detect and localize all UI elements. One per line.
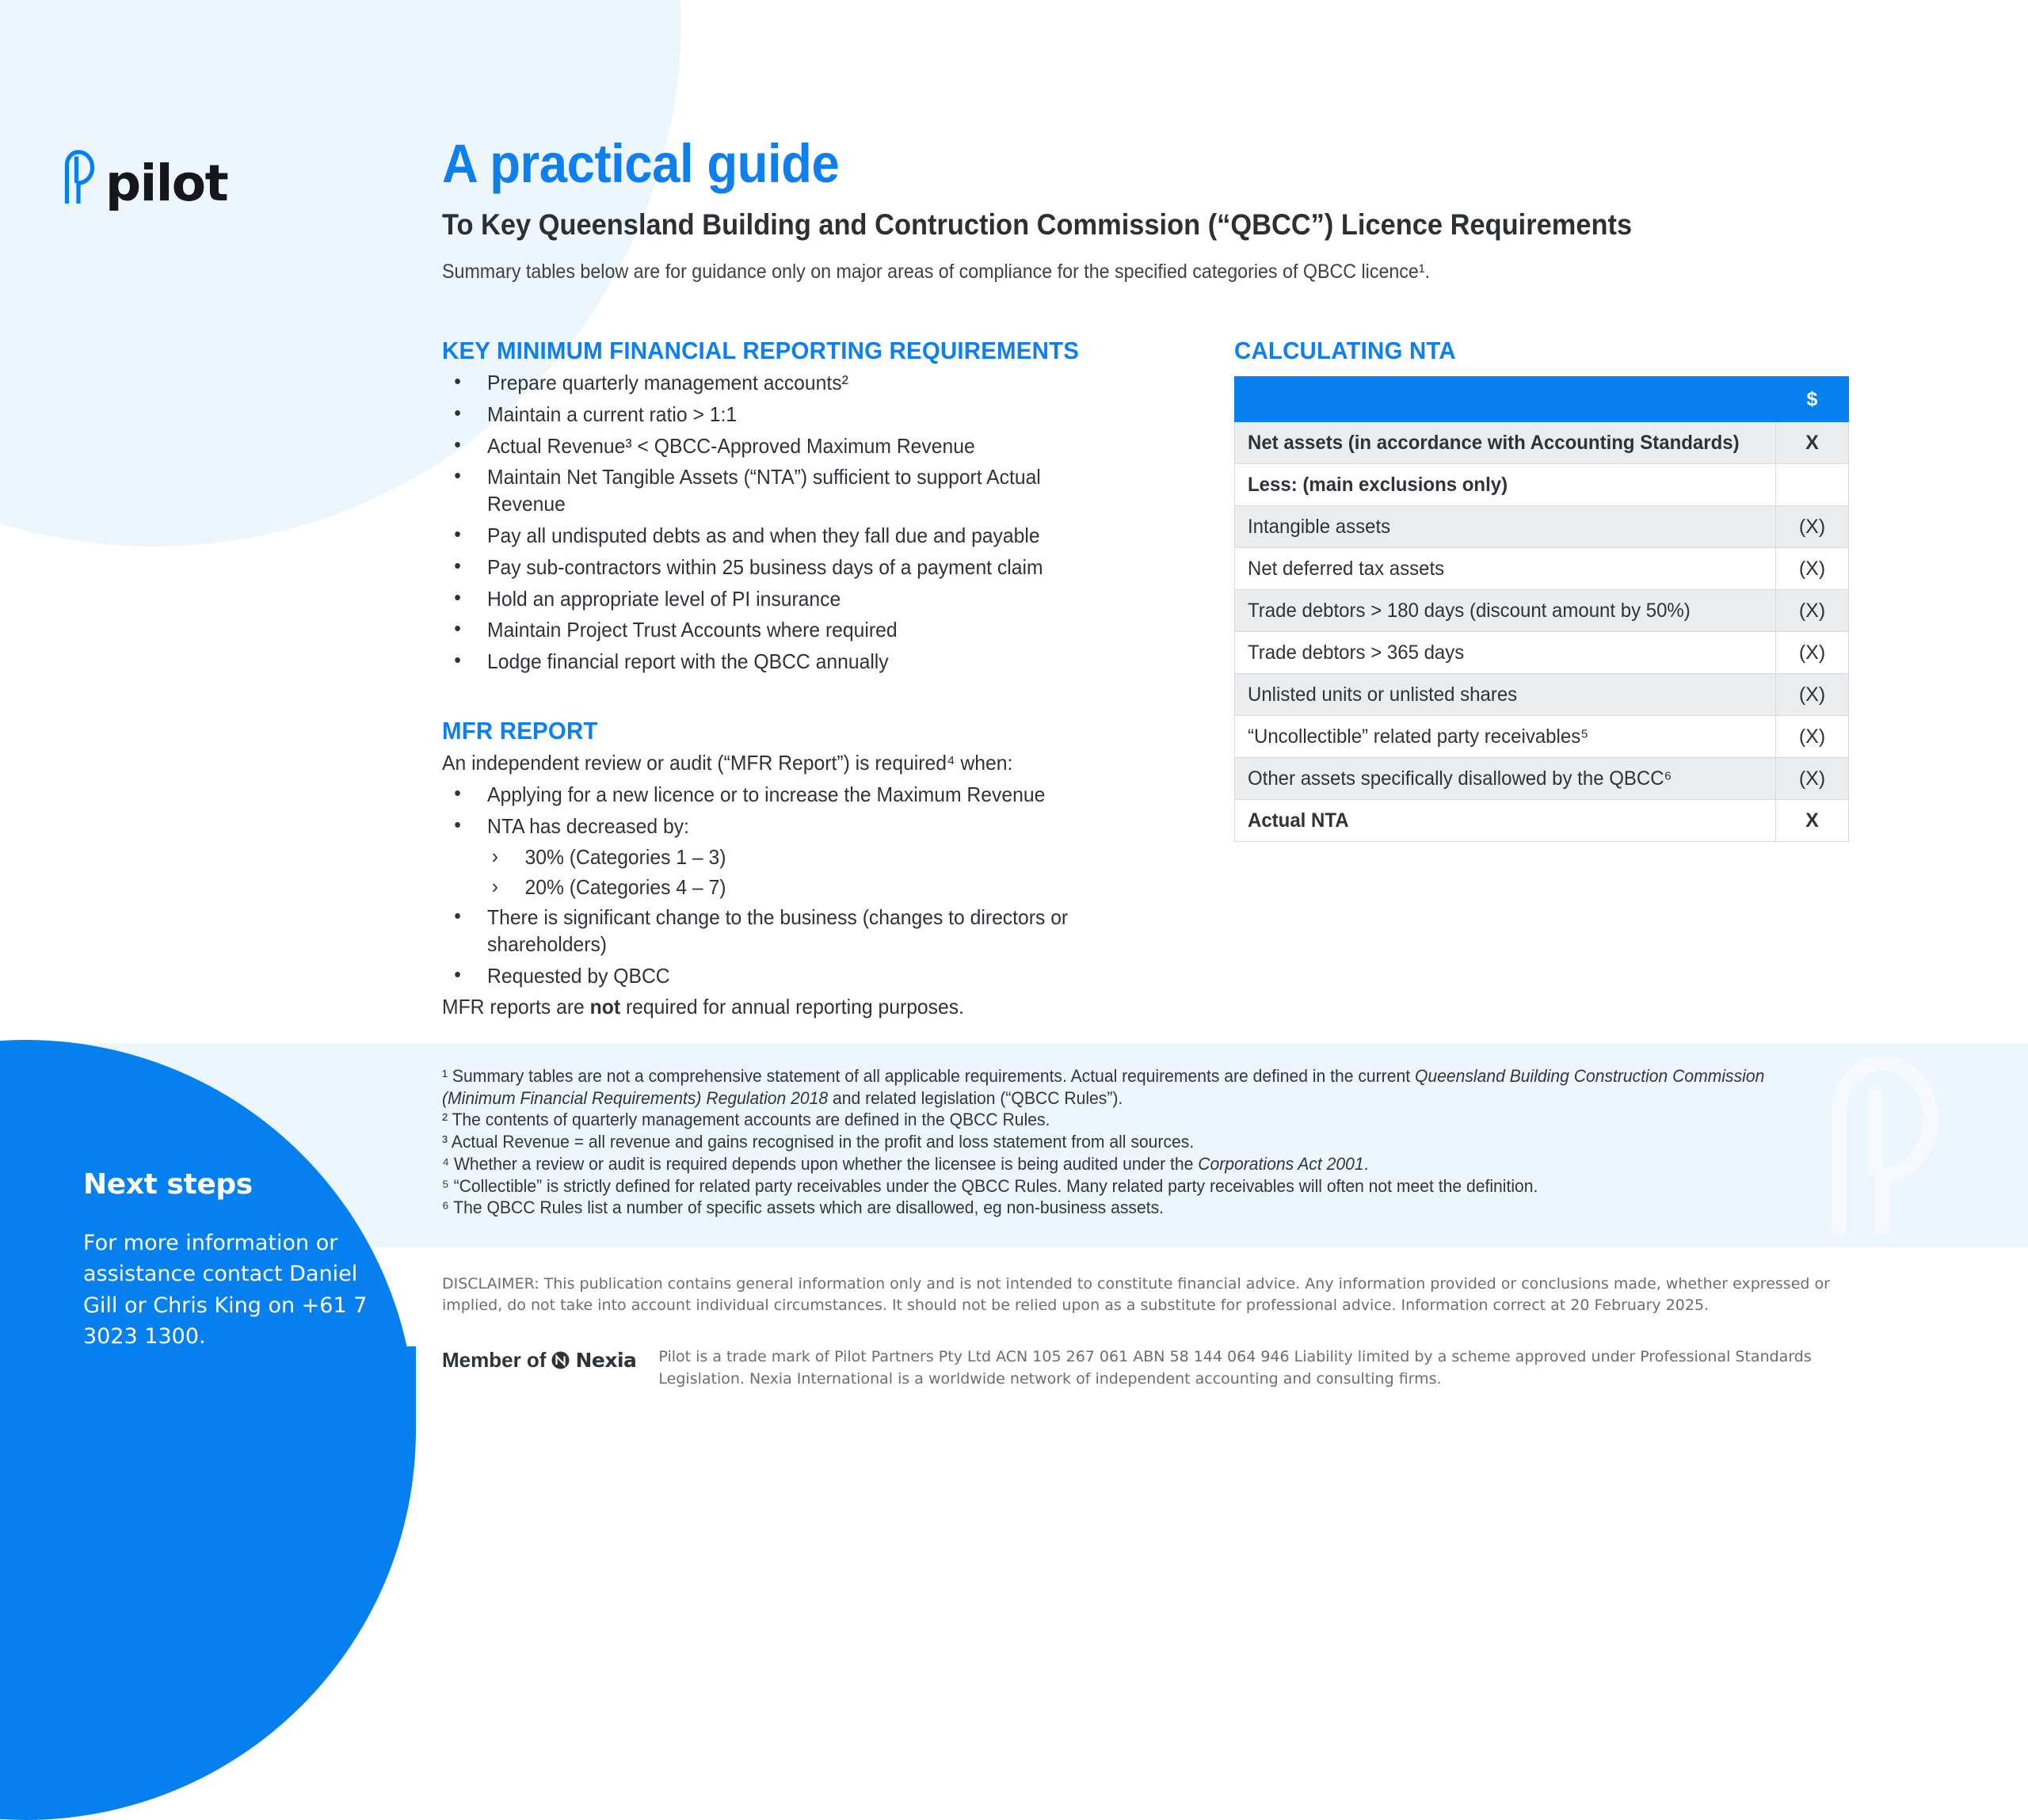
nexia-footer-row: Member of Nexia Pilot is a trade mark of…	[442, 1346, 1868, 1390]
table-cell-label: Unlisted units or unlisted shares	[1235, 674, 1776, 716]
mfr-heading: MFR REPORT	[442, 717, 1123, 745]
requirement-item: Lodge financial report with the QBCC ann…	[442, 649, 1123, 676]
right-column: CALCULATING NTA $ Net assets (in accorda…	[1234, 337, 1860, 842]
table-row: Trade debtors > 180 days (discount amoun…	[1235, 590, 1849, 632]
requirement-item: Maintain Net Tangible Assets (“NTA”) suf…	[442, 464, 1123, 518]
mfr-sub-item: 30% (Categories 1 – 3)	[442, 844, 1123, 871]
mfr-sub-item: 20% (Categories 4 – 7)	[442, 874, 1123, 901]
footnote-item: ¹ Summary tables are not a comprehensive…	[442, 1065, 1803, 1109]
pilot-wordmark: pilot	[105, 162, 227, 205]
requirements-heading: KEY MINIMUM FINANCIAL REPORTING REQUIREM…	[442, 337, 1123, 365]
legal-text: Pilot is a trade mark of Pilot Partners …	[658, 1346, 1815, 1390]
nta-heading: CALCULATING NTA	[1234, 337, 1829, 365]
table-cell-label: Net assets (in accordance with Accountin…	[1235, 422, 1776, 464]
requirement-item: Maintain Project Trust Accounts where re…	[442, 617, 1123, 644]
footnote-item: ² The contents of quarterly management a…	[442, 1109, 1803, 1131]
mfr-item: NTA has decreased by:	[442, 813, 1123, 840]
mfr-item: Requested by QBCC	[442, 963, 1123, 990]
mfr-item: Applying for a new licence or to increas…	[442, 782, 1123, 809]
mfr-item: There is significant change to the busin…	[442, 904, 1123, 958]
next-steps-heading: Next steps	[83, 1168, 384, 1201]
requirement-item: Prepare quarterly management accounts²	[442, 370, 1123, 397]
table-cell-label: Actual NTA	[1235, 800, 1776, 842]
table-cell-amount: (X)	[1776, 548, 1849, 590]
column-header-item	[1235, 377, 1776, 422]
nta-table: $ Net assets (in accordance with Account…	[1234, 376, 1849, 842]
table-cell-amount: (X)	[1776, 716, 1849, 758]
bottom-left-blue-fill	[0, 1346, 416, 1434]
mfr-list: Applying for a new licence or to increas…	[442, 782, 1159, 990]
disclaimer-text: DISCLAIMER: This publication contains ge…	[442, 1274, 1868, 1316]
footnote-item: ³ Actual Revenue = all revenue and gains…	[442, 1131, 1803, 1153]
requirement-item: Hold an appropriate level of PI insuranc…	[442, 586, 1123, 613]
document-page: pilot A practical guide To Key Queenslan…	[0, 0, 2028, 1430]
table-row: Net assets (in accordance with Accountin…	[1235, 422, 1849, 464]
requirement-item: Maintain a current ratio > 1:1	[442, 402, 1123, 428]
table-row: Actual NTAX	[1235, 800, 1849, 842]
table-row: Less: (main exclusions only)	[1235, 464, 1849, 506]
mfr-intro: An independent review or audit (“MFR Rep…	[442, 750, 1123, 777]
table-cell-label: Net deferred tax assets	[1235, 548, 1776, 590]
column-header-amount: $	[1776, 377, 1849, 422]
table-header-row: $	[1235, 377, 1849, 422]
requirement-item: Actual Revenue³ < QBCC-Approved Maximum …	[442, 433, 1123, 460]
table-cell-amount: (X)	[1776, 758, 1849, 800]
pilot-logomark-icon	[59, 143, 101, 205]
member-of-nexia: Member of Nexia	[442, 1346, 636, 1370]
footnote-item: ⁵ “Collectible” is strictly defined for …	[442, 1175, 1803, 1197]
mfr-footer-note: MFR reports are not required for annual …	[442, 994, 1123, 1021]
table-cell-label: Trade debtors > 180 days (discount amoun…	[1235, 590, 1776, 632]
table-cell-label: Less: (main exclusions only)	[1235, 464, 1776, 506]
section-spacer	[442, 680, 1159, 717]
requirement-item: Pay sub-contractors within 25 business d…	[442, 554, 1123, 581]
page-lede: Summary tables below are for guidance on…	[442, 242, 1835, 284]
table-row: Net deferred tax assets(X)	[1235, 548, 1849, 590]
nexia-logomark-icon	[551, 1350, 570, 1370]
table-row: “Uncollectible” related party receivable…	[1235, 716, 1849, 758]
footnote-item: ⁶ The QBCC Rules list a number of specif…	[442, 1197, 1803, 1219]
footnote-item: ⁴ Whether a review or audit is required …	[442, 1153, 1803, 1175]
table-cell-amount: (X)	[1776, 506, 1849, 548]
page-subtitle: To Key Queensland Building and Contructi…	[442, 191, 1835, 242]
header-block: A practical guide To Key Queensland Buil…	[442, 0, 1939, 284]
next-steps-body: For more information or assistance conta…	[83, 1228, 384, 1353]
left-column: KEY MINIMUM FINANCIAL REPORTING REQUIREM…	[442, 337, 1159, 1026]
table-cell-label: Other assets specifically disallowed by …	[1235, 758, 1776, 800]
table-cell-amount: (X)	[1776, 632, 1849, 674]
table-cell-amount: (X)	[1776, 590, 1849, 632]
table-cell-amount: X	[1776, 422, 1849, 464]
table-row: Other assets specifically disallowed by …	[1235, 758, 1849, 800]
page-title: A practical guide	[442, 0, 1820, 191]
pilot-logo: pilot	[59, 143, 227, 205]
table-cell-amount: (X)	[1776, 674, 1849, 716]
nexia-wordmark: Nexia	[575, 1350, 636, 1370]
table-cell-amount: X	[1776, 800, 1849, 842]
table-cell-amount	[1776, 464, 1849, 506]
mfr-footer-emphasis: not	[590, 995, 620, 1019]
table-cell-label: “Uncollectible” related party receivable…	[1235, 716, 1776, 758]
next-steps-panel: Next steps For more information or assis…	[83, 1168, 384, 1353]
requirements-list: Prepare quarterly management accounts²Ma…	[442, 370, 1159, 676]
table-cell-label: Intangible assets	[1235, 506, 1776, 548]
table-row: Trade debtors > 365 days(X)	[1235, 632, 1849, 674]
member-of-label: Member of	[442, 1350, 546, 1370]
table-row: Unlisted units or unlisted shares(X)	[1235, 674, 1849, 716]
table-cell-label: Trade debtors > 365 days	[1235, 632, 1776, 674]
requirement-item: Pay all undisputed debts as and when the…	[442, 523, 1123, 550]
table-row: Intangible assets(X)	[1235, 506, 1849, 548]
footnotes-block: ¹ Summary tables are not a comprehensive…	[442, 1065, 1860, 1219]
